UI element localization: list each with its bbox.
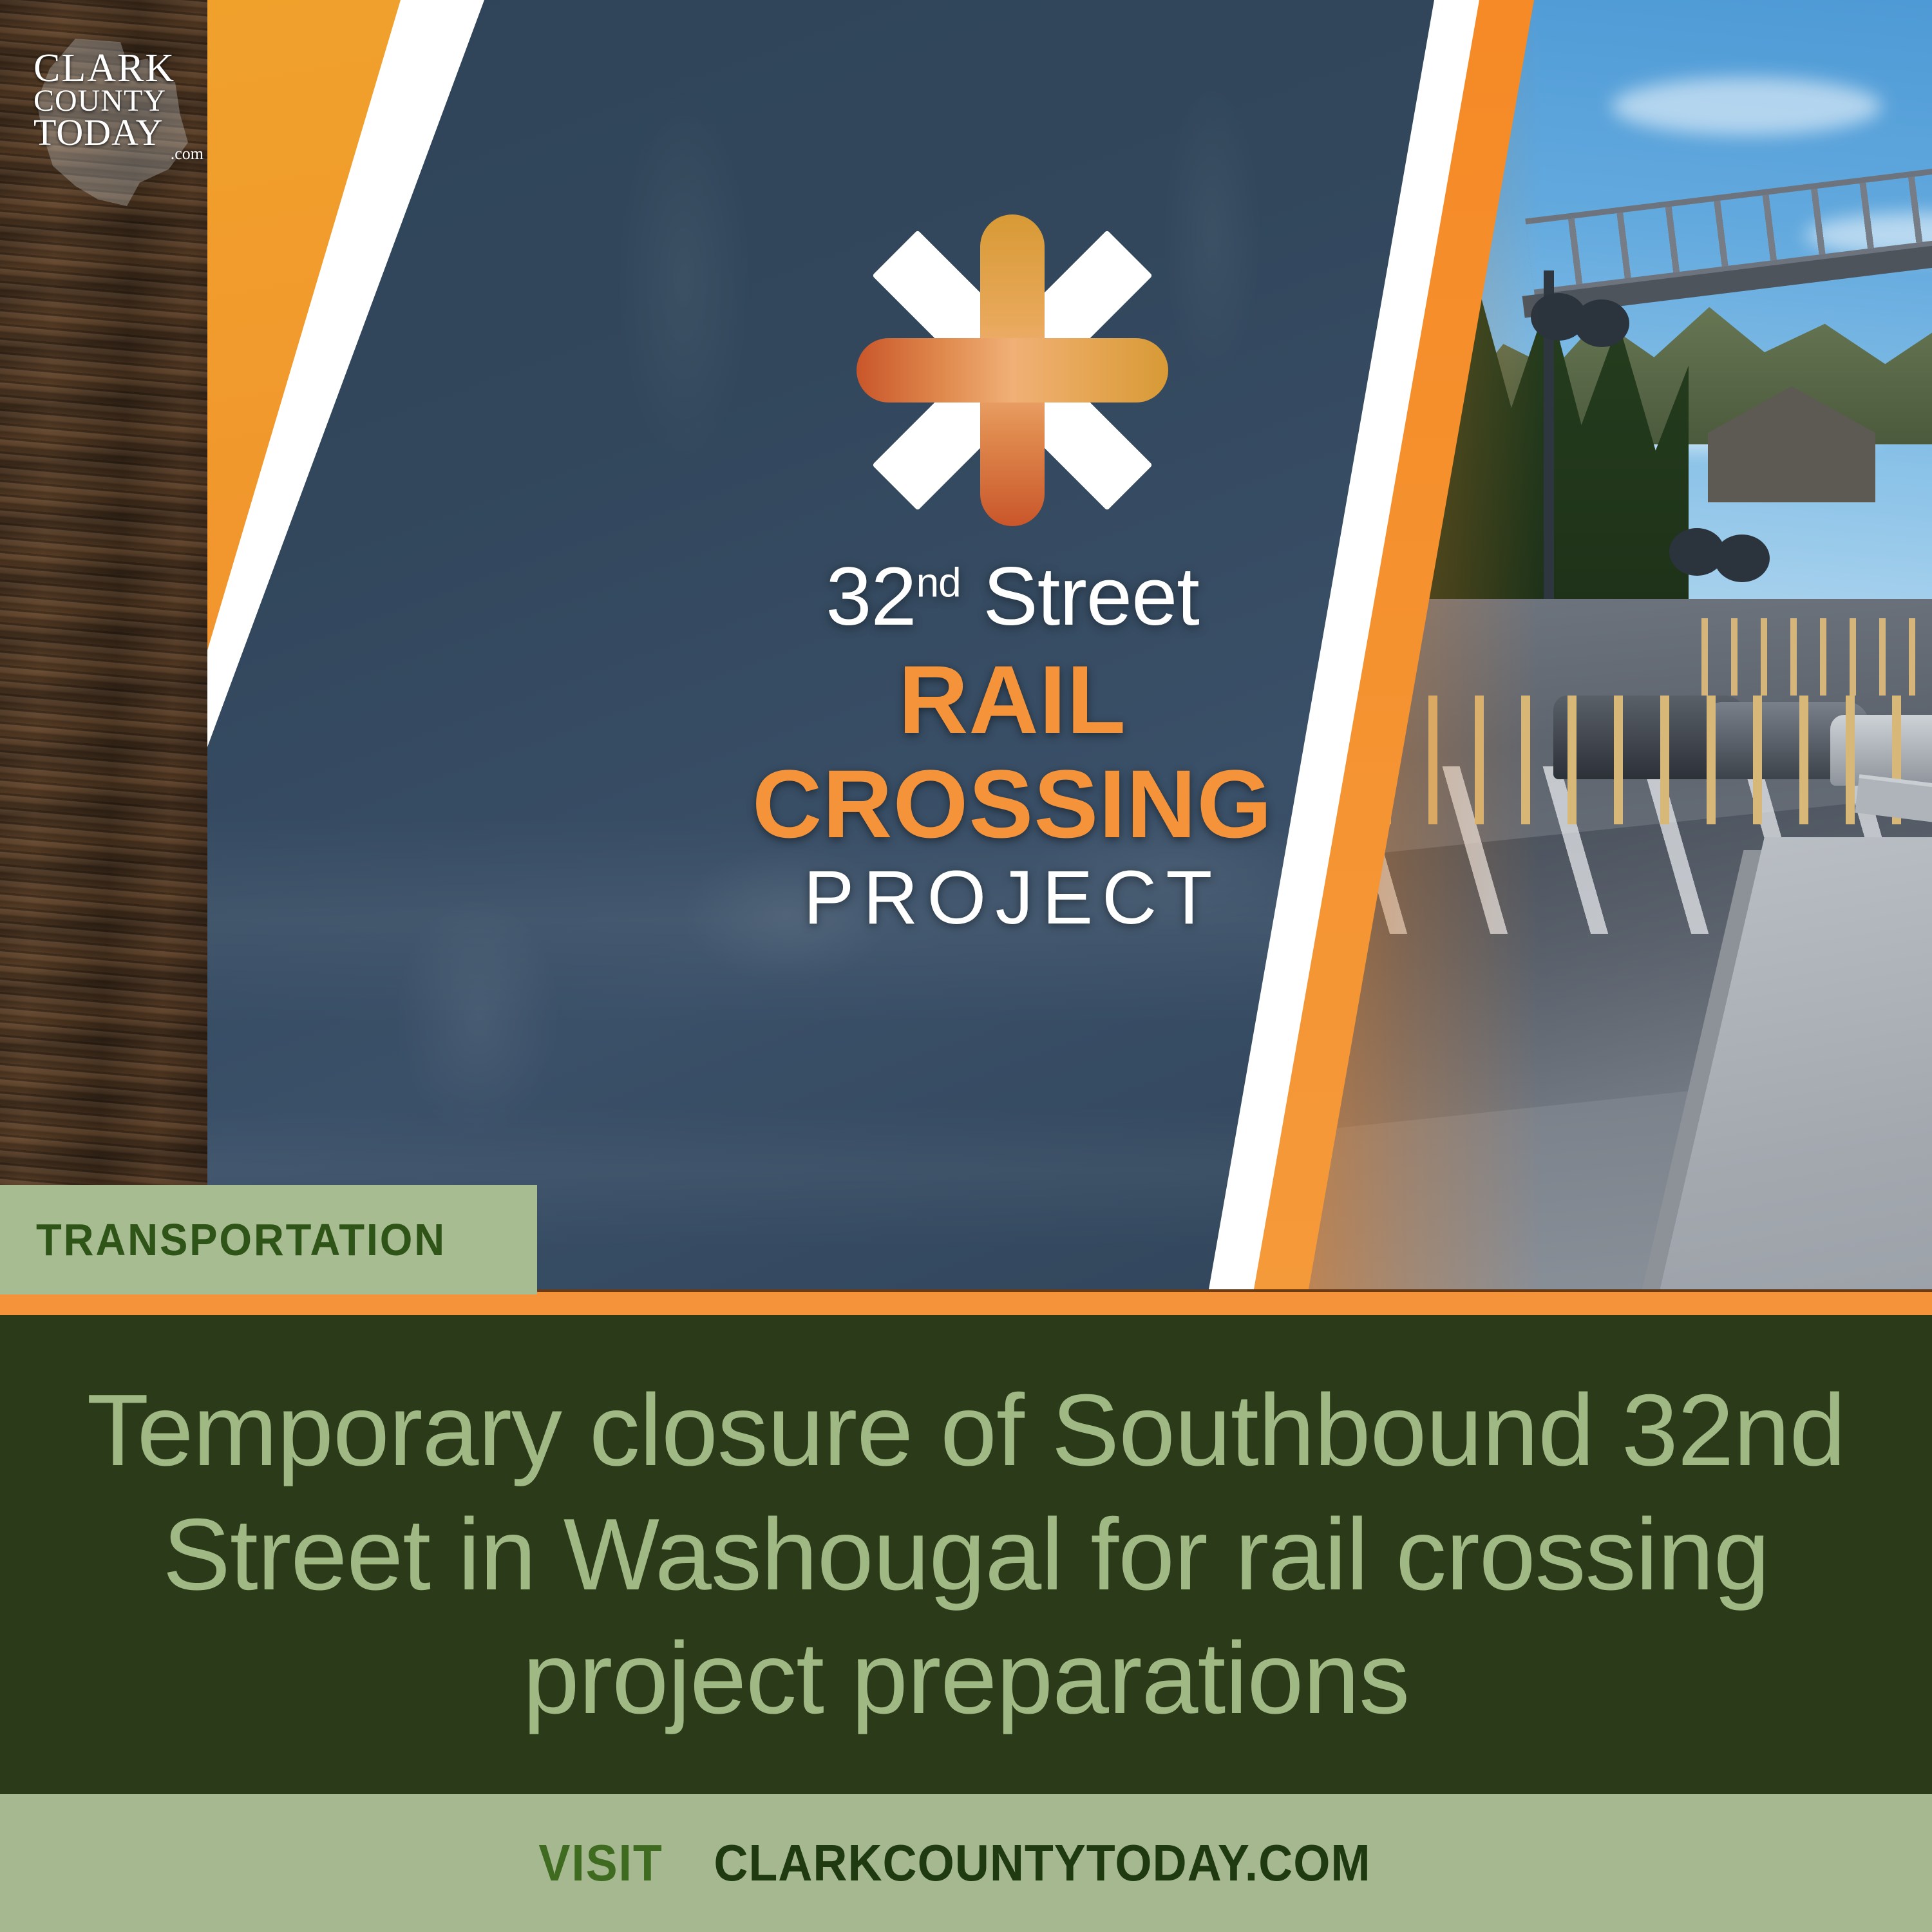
railroad-signal-light xyxy=(1574,299,1629,347)
railroad-signal-light xyxy=(1714,535,1770,582)
project-logo-lockup: 32nd Street RAIL CROSSING PROJECT xyxy=(645,190,1379,936)
street-number: 32 xyxy=(826,551,916,643)
category-badge-label: TRANSPORTATION xyxy=(36,1214,446,1265)
project-word-line: PROJECT xyxy=(645,860,1379,936)
mark-horizontal-bar xyxy=(857,338,1168,402)
cloud xyxy=(1611,77,1882,135)
clark-county-today-logo[interactable]: CLARK COUNTY TODAY .com xyxy=(33,50,207,161)
category-badge[interactable]: TRANSPORTATION xyxy=(0,1185,537,1294)
project-street-line: 32nd Street xyxy=(645,556,1379,638)
headline-band: Temporary closure of Southbound 32nd Str… xyxy=(0,1315,1932,1794)
x-crossing-mark-icon xyxy=(832,190,1193,551)
social-share-card: CLARK COUNTY TODAY .com xyxy=(0,0,1932,1932)
footer-url[interactable]: CLARKCOUNTYTODAY.COM xyxy=(714,1833,1370,1893)
delineator-posts xyxy=(1701,618,1932,696)
wood-background-panel: CLARK COUNTY TODAY .com xyxy=(0,0,207,1315)
project-rail-crossing-line: RAIL CROSSING xyxy=(645,647,1379,856)
footer-visit-label: VISIT xyxy=(538,1833,663,1893)
hero-image-area: CLARK COUNTY TODAY .com xyxy=(0,0,1932,1315)
street-ordinal: nd xyxy=(916,559,961,605)
footer-band[interactable]: VISIT CLARKCOUNTYTODAY.COM xyxy=(0,1794,1932,1932)
headline-text: Temporary closure of Southbound 32nd Str… xyxy=(52,1368,1880,1741)
hero-graphic-panel: 32nd Street RAIL CROSSING PROJECT xyxy=(207,0,1932,1315)
logo-line-clark: CLARK xyxy=(33,50,207,87)
street-word: Street xyxy=(983,551,1199,643)
